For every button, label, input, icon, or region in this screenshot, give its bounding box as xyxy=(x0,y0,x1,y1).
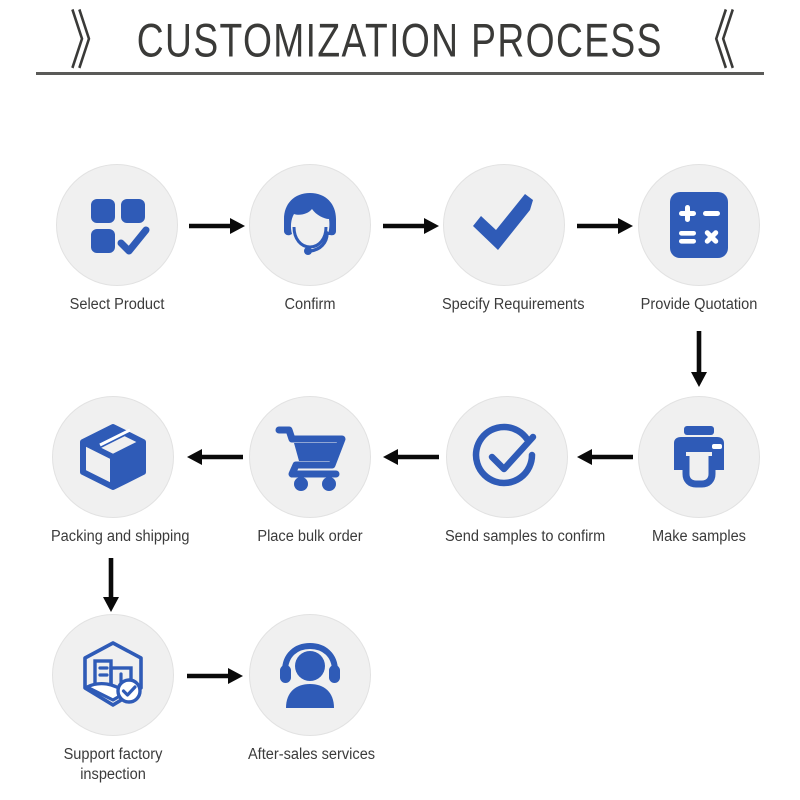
arrow-step2-step3 xyxy=(382,215,440,237)
step-icon-circle xyxy=(249,614,371,736)
step-icon-circle xyxy=(52,396,174,518)
step-label: Send samples to confirm xyxy=(445,527,569,547)
arrow-step5-step6 xyxy=(576,446,634,468)
step-node-after-sales-services[interactable]: After-sales services xyxy=(244,614,376,765)
step-icon-circle xyxy=(638,396,760,518)
arrow-step1-step2 xyxy=(188,215,246,237)
step-icon-circle xyxy=(249,396,371,518)
step-icon-circle xyxy=(638,164,760,286)
arrow-step4-step5 xyxy=(688,330,710,388)
support-agent-headset-icon xyxy=(272,187,348,263)
step-node-place-bulk-order[interactable]: Place bulk order xyxy=(244,396,376,547)
step-node-select-product[interactable]: Select Product xyxy=(51,164,183,315)
circle-check-icon xyxy=(469,419,545,495)
arrow-step7-step8 xyxy=(186,446,244,468)
arrow-step9-step10 xyxy=(186,665,244,687)
step-node-confirm[interactable]: Confirm xyxy=(244,164,376,315)
step-node-send-samples-to-confirm[interactable]: Send samples to confirm xyxy=(441,396,573,547)
calculator-icon xyxy=(665,189,733,261)
arrow-step3-step4 xyxy=(576,215,634,237)
step-node-provide-quotation[interactable]: Provide Quotation xyxy=(633,164,765,315)
process-flow-diagram: Select Product Confirm Specify Requireme… xyxy=(0,0,800,800)
step-node-make-samples[interactable]: Make samples xyxy=(633,396,765,547)
step-label: Place bulk order xyxy=(248,527,372,547)
step-node-support-factory-inspection[interactable]: Support factory inspection xyxy=(47,614,179,785)
grid-squares-check-icon xyxy=(81,189,153,261)
step-label: Select Product xyxy=(55,295,179,315)
step-label: Support factory inspection xyxy=(51,745,175,785)
package-box-icon xyxy=(76,420,150,494)
step-label: After-sales services xyxy=(248,745,372,765)
step-label: Specify Requirements xyxy=(442,295,566,315)
shopping-cart-icon xyxy=(272,422,348,492)
step-icon-circle xyxy=(443,164,565,286)
step-label: Provide Quotation xyxy=(637,295,761,315)
step-icon-circle xyxy=(446,396,568,518)
step-node-packing-and-shipping[interactable]: Packing and shipping xyxy=(47,396,179,547)
factory-inspection-shield-icon xyxy=(75,637,151,713)
check-mark-icon xyxy=(467,188,541,262)
step-icon-circle xyxy=(249,164,371,286)
arrow-step6-step7 xyxy=(382,446,440,468)
step-icon-circle xyxy=(52,614,174,736)
step-node-specify-requirements[interactable]: Specify Requirements xyxy=(438,164,570,315)
printer-icon xyxy=(662,422,736,492)
arrow-step8-step9 xyxy=(100,557,122,613)
step-label: Make samples xyxy=(637,527,761,547)
step-icon-circle xyxy=(56,164,178,286)
step-label: Confirm xyxy=(248,295,372,315)
step-label: Packing and shipping xyxy=(51,527,175,547)
headphones-person-icon xyxy=(274,640,346,710)
